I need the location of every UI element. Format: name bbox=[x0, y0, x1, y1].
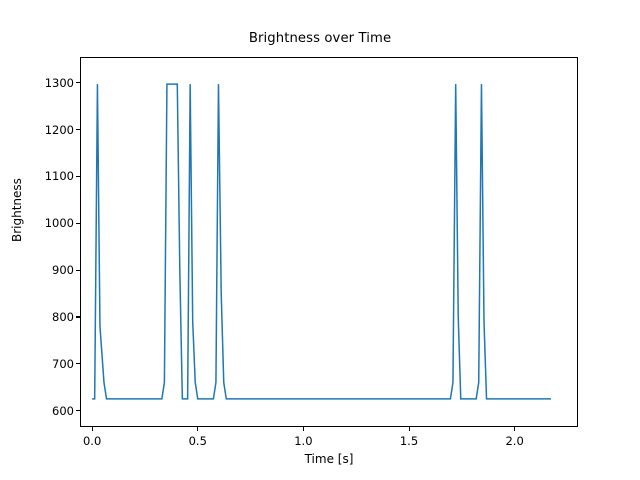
x-tick-label: 2.0 bbox=[505, 434, 523, 448]
x-tick-mark bbox=[409, 427, 410, 431]
y-tick-label: 1300 bbox=[28, 76, 74, 90]
y-tick-label: 1200 bbox=[28, 123, 74, 137]
x-tick-mark bbox=[92, 427, 93, 431]
x-tick-mark bbox=[303, 427, 304, 431]
x-tick-mark bbox=[514, 427, 515, 431]
y-tick-mark bbox=[76, 129, 80, 130]
y-tick-mark bbox=[76, 316, 80, 317]
y-tick-mark bbox=[76, 410, 80, 411]
x-tick-label: 1.0 bbox=[294, 434, 312, 448]
y-tick-mark bbox=[76, 82, 80, 83]
y-tick-label: 900 bbox=[28, 263, 74, 277]
x-axis-label: Time [s] bbox=[80, 452, 578, 466]
y-axis-label: Brightness bbox=[10, 178, 24, 242]
y-tick-mark bbox=[76, 176, 80, 177]
figure-canvas: Brightness over Time 6007008009001000110… bbox=[0, 0, 640, 480]
x-tick-label: 0.5 bbox=[189, 434, 207, 448]
y-tick-label: 800 bbox=[28, 310, 74, 324]
y-tick-label: 1100 bbox=[28, 169, 74, 183]
y-tick-label: 1000 bbox=[28, 216, 74, 230]
x-tick-label: 1.5 bbox=[400, 434, 418, 448]
y-tick-label: 700 bbox=[28, 357, 74, 371]
y-tick-label: 600 bbox=[28, 404, 74, 418]
y-tick-mark bbox=[76, 223, 80, 224]
x-tick-label: 0.0 bbox=[83, 434, 101, 448]
chart-title: Brightness over Time bbox=[0, 31, 640, 46]
plot-axes-frame bbox=[80, 57, 578, 427]
x-tick-mark bbox=[197, 427, 198, 431]
y-tick-mark bbox=[76, 363, 80, 364]
y-tick-mark bbox=[76, 270, 80, 271]
